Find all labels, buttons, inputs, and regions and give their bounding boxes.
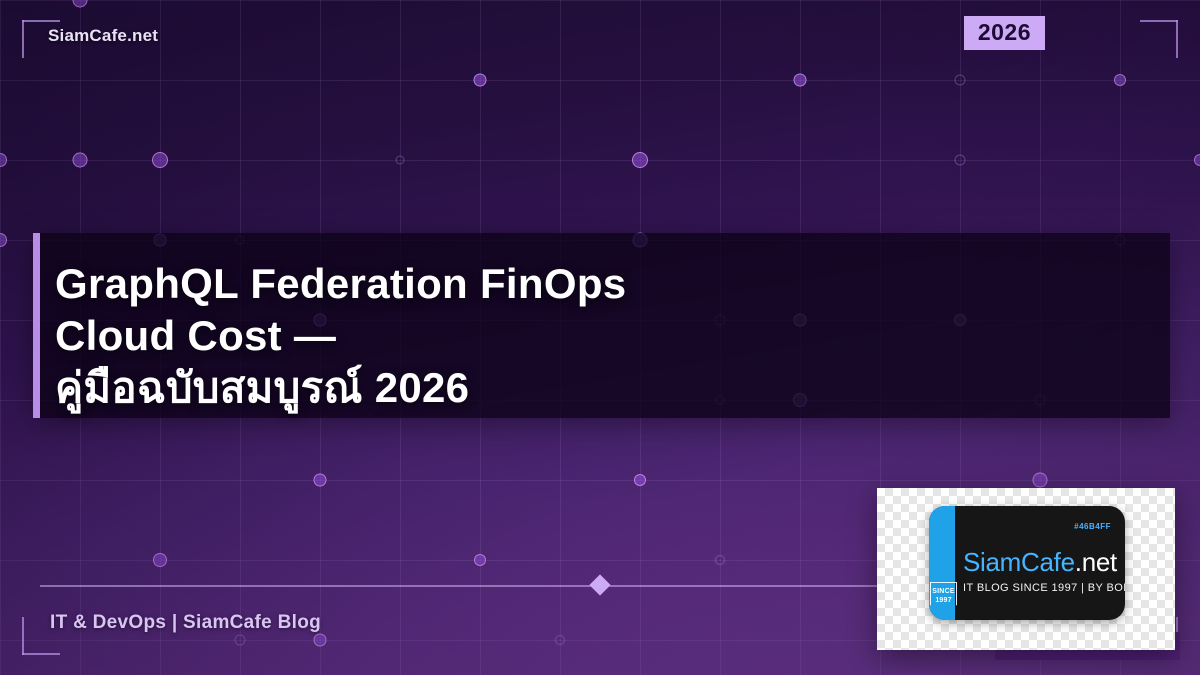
grid-node bbox=[632, 152, 648, 168]
site-brand-label: SiamCafe.net bbox=[48, 26, 158, 46]
hero-banner: SiamCafe.net 2026 GraphQL Federation Fin… bbox=[0, 0, 1200, 675]
grid-node bbox=[634, 474, 646, 486]
bracket-vertical-line bbox=[22, 617, 24, 655]
grid-node bbox=[794, 74, 807, 87]
bracket-vertical-line bbox=[22, 20, 24, 58]
grid-node bbox=[153, 553, 167, 567]
grid-node bbox=[73, 0, 88, 8]
bracket-horizontal-line bbox=[1140, 20, 1178, 22]
bracket-vertical-line bbox=[1176, 20, 1178, 58]
corner-bracket-top-right bbox=[1140, 20, 1178, 58]
hex-code-label: #46B4FF bbox=[1074, 522, 1111, 531]
year-badge: 2026 bbox=[964, 16, 1045, 50]
grid-node bbox=[73, 153, 88, 168]
bracket-horizontal-line bbox=[22, 20, 60, 22]
logo-wordmark-blue: SiamCafe bbox=[963, 547, 1075, 577]
grid-node bbox=[314, 634, 327, 647]
grid-node bbox=[1033, 473, 1048, 488]
diamond-marker-icon bbox=[589, 574, 610, 595]
grid-node bbox=[1194, 154, 1200, 166]
logo-wordmark-white: .net bbox=[1075, 547, 1117, 577]
title-accent-bar bbox=[33, 233, 40, 418]
grid-node bbox=[152, 152, 168, 168]
since-year: 1997 bbox=[935, 597, 951, 604]
grid-node bbox=[0, 233, 7, 247]
grid-node bbox=[235, 635, 246, 646]
grid-node bbox=[396, 156, 405, 165]
grid-node bbox=[474, 554, 486, 566]
logo-subtitle: IT BLOG SINCE 1997 | BY BOM bbox=[963, 582, 1125, 594]
grid-node bbox=[715, 555, 725, 565]
logo-wordmark: SiamCafe.net bbox=[963, 548, 1115, 576]
grid-node bbox=[0, 153, 7, 167]
logo-card: SINCE 1997 #46B4FF SiamCafe.net IT BLOG … bbox=[877, 488, 1175, 650]
bracket-horizontal-line bbox=[22, 653, 60, 655]
grid-node bbox=[474, 74, 487, 87]
grid-node bbox=[555, 635, 565, 645]
page-title: GraphQL Federation FinOps Cloud Cost — ค… bbox=[55, 258, 1175, 414]
grid-node bbox=[955, 155, 966, 166]
logo-badge: SINCE 1997 #46B4FF SiamCafe.net IT BLOG … bbox=[929, 506, 1125, 620]
grid-node bbox=[955, 75, 966, 86]
grid-node bbox=[1114, 74, 1126, 86]
footer-caption: IT & DevOps | SiamCafe Blog bbox=[50, 612, 321, 634]
grid-node bbox=[314, 474, 327, 487]
since-label: SINCE bbox=[932, 588, 954, 595]
